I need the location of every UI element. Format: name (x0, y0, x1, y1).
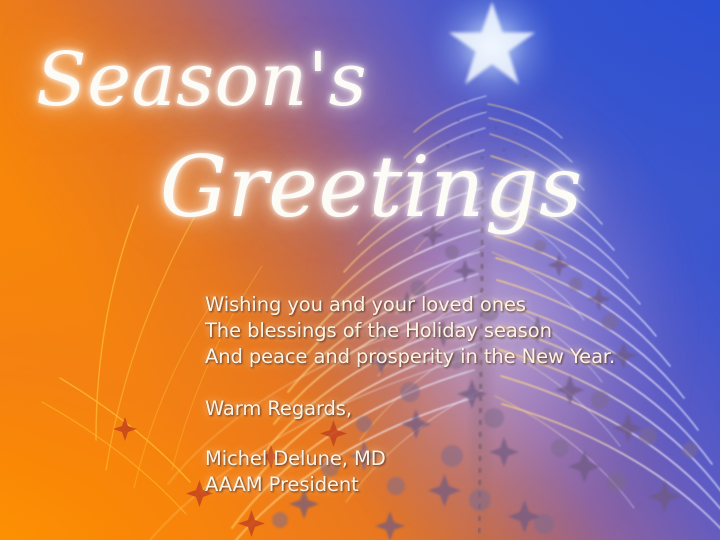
greeting-card: Season's Greetings Wishing you and your … (0, 0, 720, 540)
christmas-tree (0, 0, 720, 540)
